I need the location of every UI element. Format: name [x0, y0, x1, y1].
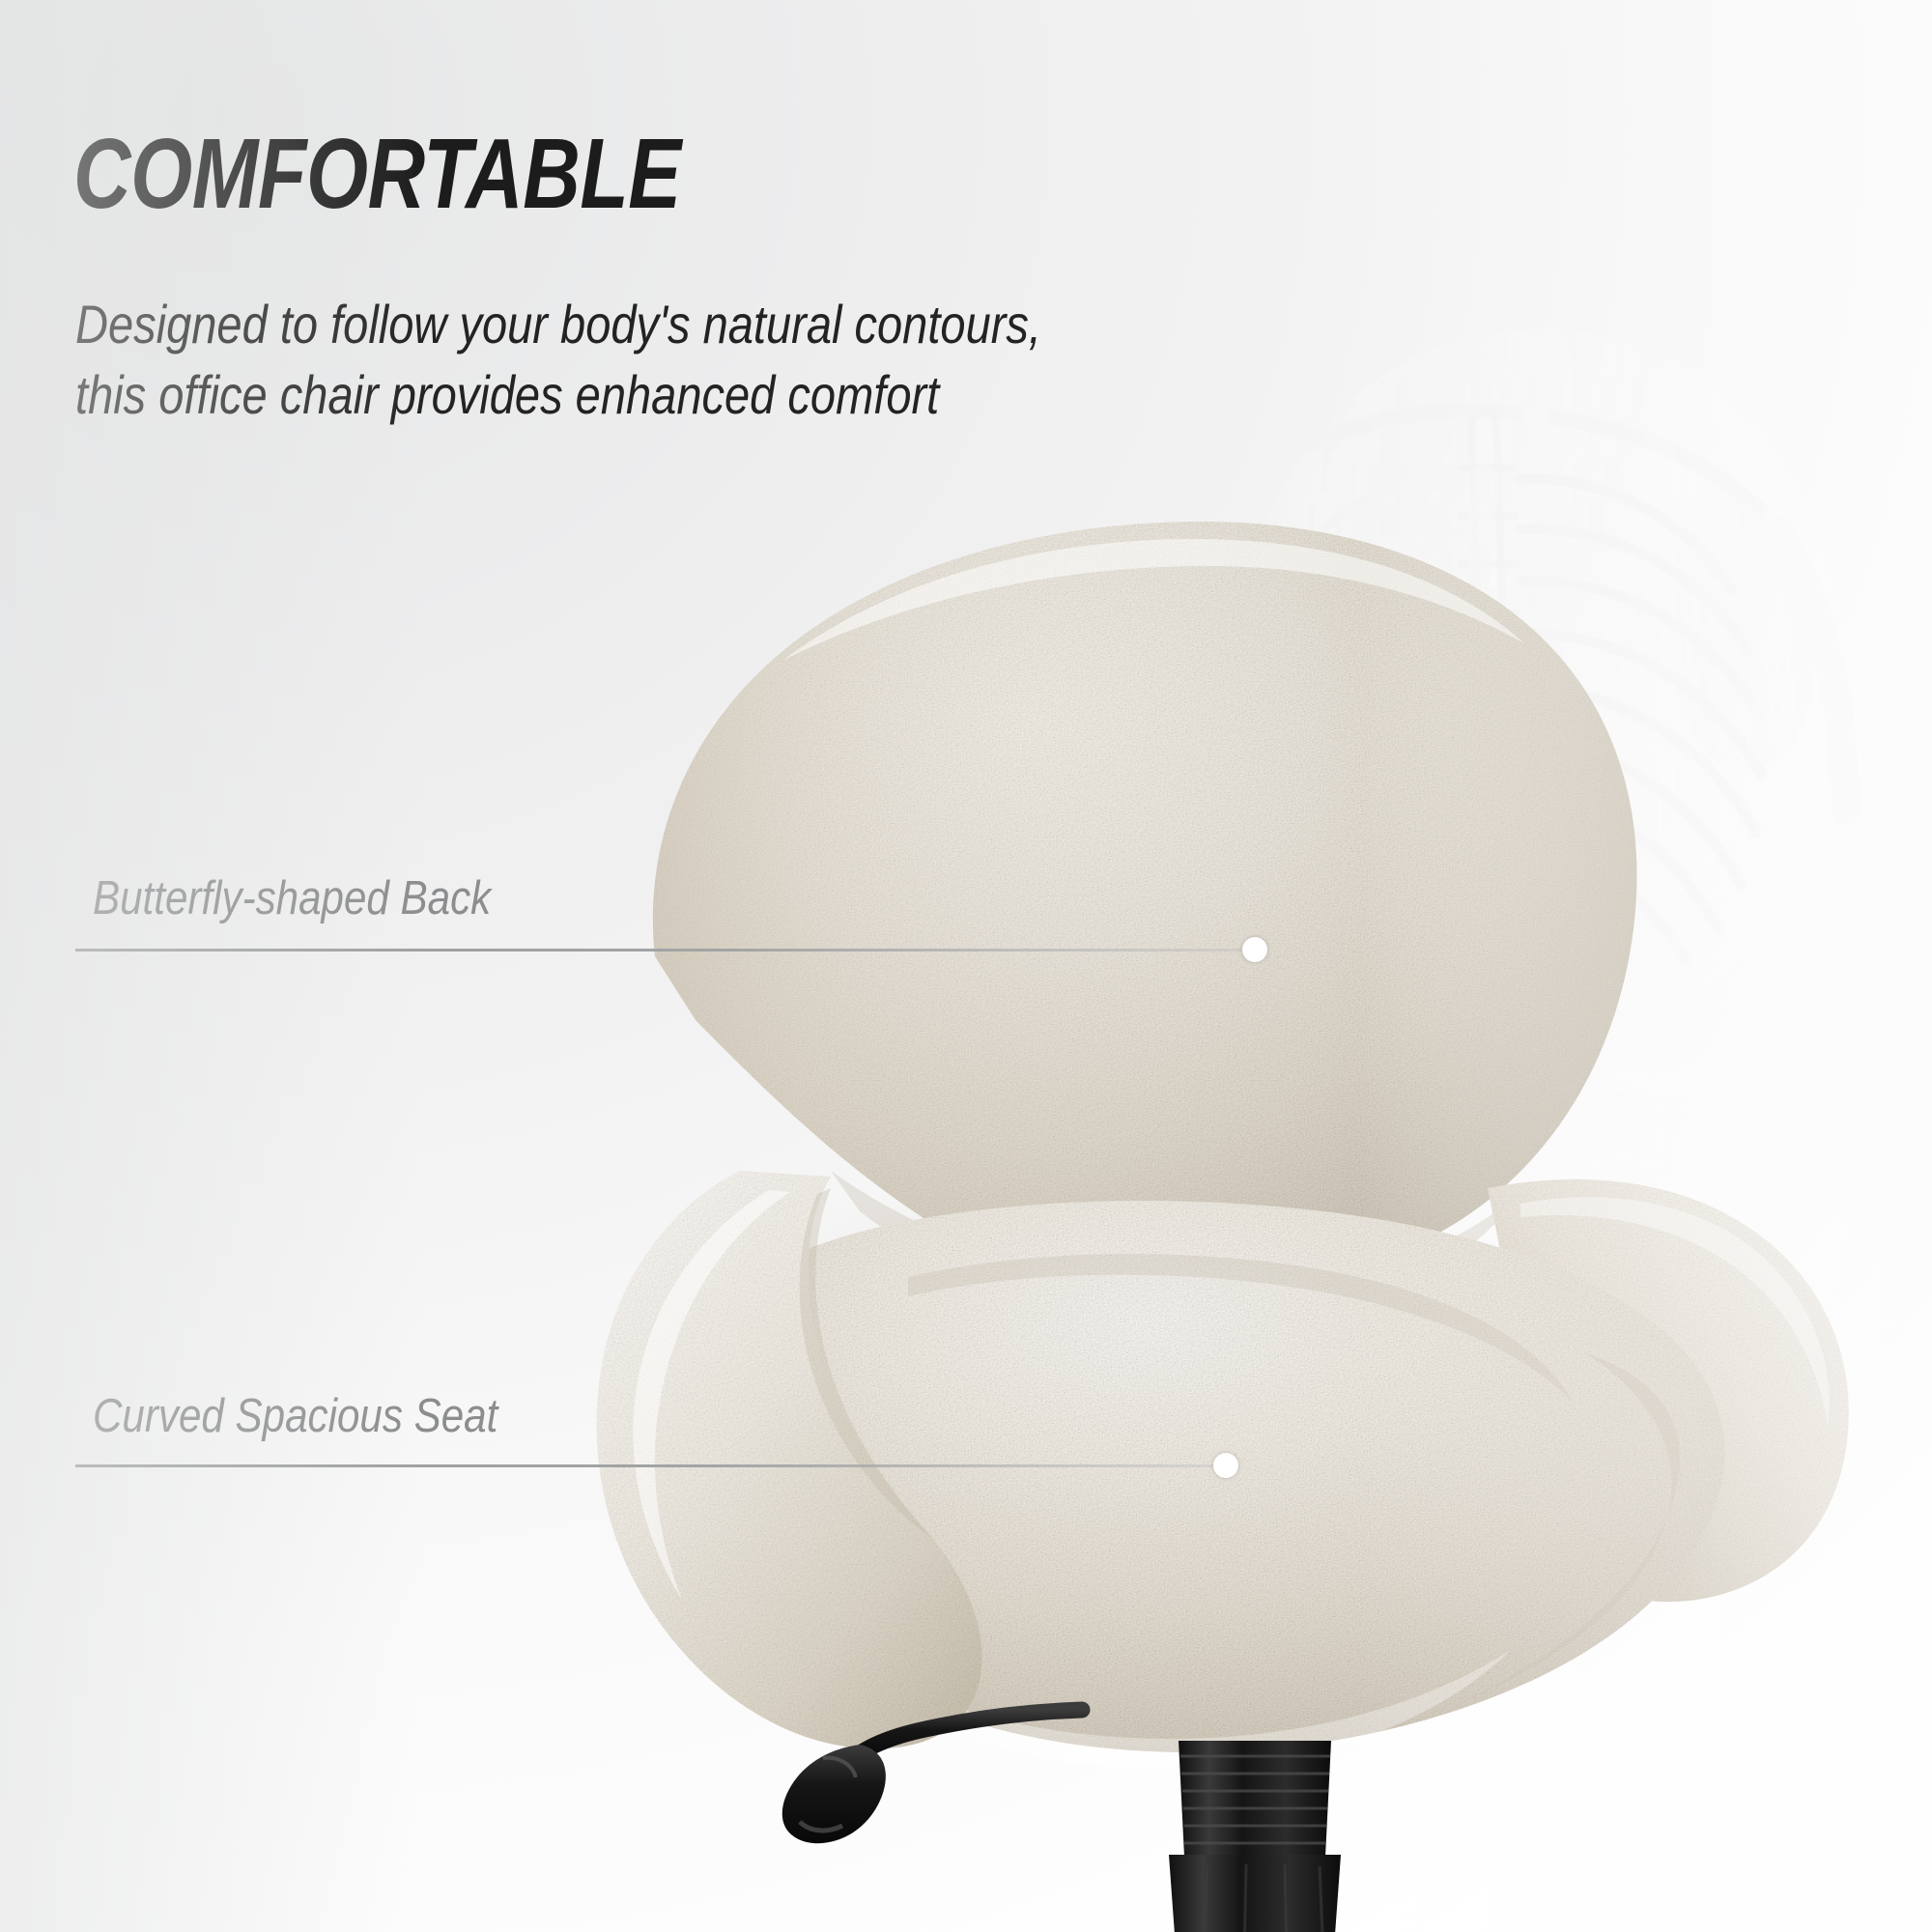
boucle-office-chair: [541, 454, 1913, 1932]
chair-backrest: [653, 522, 1637, 1326]
gas-cylinder-housing: [1169, 1741, 1341, 1932]
height-adjustment-lever: [782, 1710, 1082, 1843]
chair-seat: [653, 1201, 1724, 1770]
callout-dot-marker: [1213, 1453, 1238, 1478]
subtitle-line-1: Designed to follow your body's natural c…: [75, 290, 1041, 360]
page-title: COMFORTABLE: [73, 124, 681, 223]
subtitle-line-2: this office chair provides enhanced comf…: [75, 360, 1041, 431]
chair-left-armrest: [597, 1171, 982, 1748]
callout-leader-line: [75, 949, 1256, 952]
subtitle: Designed to follow your body's natural c…: [75, 290, 1041, 431]
callout-label-curved-seat: Curved Spacious Seat: [93, 1389, 497, 1443]
chair-right-armrest: [1488, 1179, 1849, 1602]
callout-label-butterfly-back: Butterfly-shaped Back: [93, 871, 491, 925]
callout-dot-marker: [1242, 937, 1267, 962]
anatomical-skeleton-ghost: [947, 135, 1932, 1256]
product-feature-banner: COMFORTABLE Designed to follow your body…: [0, 0, 1932, 1932]
callout-leader-line: [75, 1464, 1227, 1467]
